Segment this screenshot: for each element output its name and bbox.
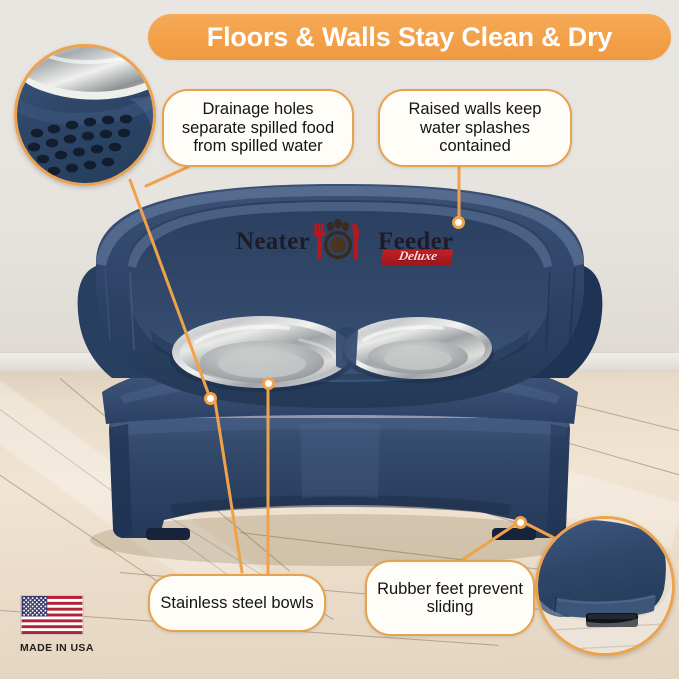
drainage-holes-callout-text: Drainage holes separate spilled food fro…	[172, 100, 344, 155]
infographic-canvas: Neater Feede	[0, 0, 679, 679]
leader-dot-drainage	[204, 392, 217, 405]
header-banner-text: Floors & Walls Stay Clean & Dry	[207, 22, 612, 53]
raised-walls-callout-text: Raised walls keep water splashes contain…	[388, 100, 562, 155]
stainless-bowls-callout[interactable]: Stainless steel bowls	[148, 574, 326, 632]
rubber-feet-callout[interactable]: Rubber feet prevent sliding	[365, 560, 535, 636]
rubber-feet-callout-text: Rubber feet prevent sliding	[375, 580, 525, 617]
neater-feeder-logo: Neater Feede	[236, 218, 458, 268]
made-in-usa-badge: MADE IN USA	[20, 595, 86, 654]
drainage-holes-callout[interactable]: Drainage holes separate spilled food fro…	[162, 89, 354, 167]
leader-dot-raised-walls	[452, 216, 465, 229]
logo-word-deluxe: Deluxe	[385, 248, 452, 264]
logo-word-neater: Neater	[236, 228, 310, 256]
raised-walls-callout[interactable]: Raised walls keep water splashes contain…	[378, 89, 572, 167]
leader-dot-rubber-feet	[514, 516, 527, 529]
made-in-usa-label: MADE IN USA	[20, 642, 86, 654]
stainless-bowls-callout-text: Stainless steel bowls	[160, 594, 313, 612]
us-flag-icon	[20, 595, 84, 635]
paw-fork-knife-icon	[308, 218, 368, 266]
drainage-holes-inset	[14, 44, 156, 186]
header-banner: Floors & Walls Stay Clean & Dry	[148, 14, 671, 60]
rubber-feet-inset	[535, 516, 675, 656]
leader-dot-bowls	[262, 377, 275, 390]
